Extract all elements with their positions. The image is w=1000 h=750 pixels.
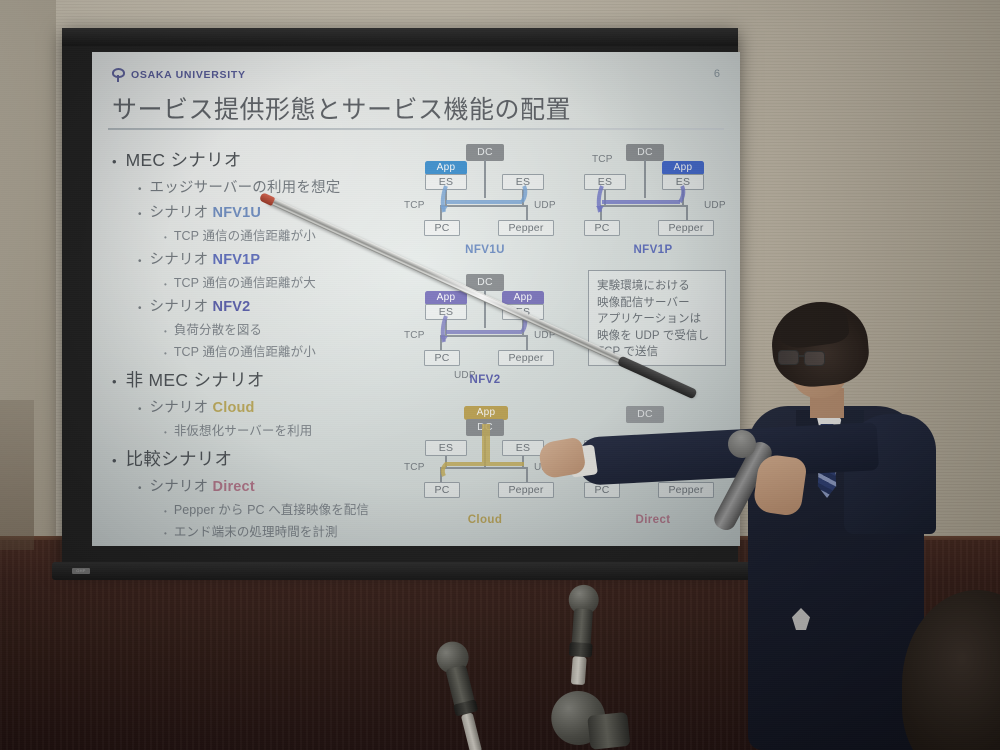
projector-screen-bottom-bar [52, 562, 752, 580]
microphone-clip [569, 642, 593, 658]
foreground-microphone-front [549, 682, 666, 750]
wall-left-shadow [0, 400, 34, 550]
microphone-stand [571, 656, 587, 685]
photo-scene: OHP OSAKA UNIVERSITY 6 サービス提供形態とサービス機能の配… [0, 0, 1000, 750]
glasses-icon [778, 350, 830, 366]
screen-bar-logo: OHP [72, 568, 90, 574]
presenter-microphone-hand [752, 453, 808, 517]
microphone-stand [461, 712, 482, 750]
microphone-body [587, 712, 630, 750]
